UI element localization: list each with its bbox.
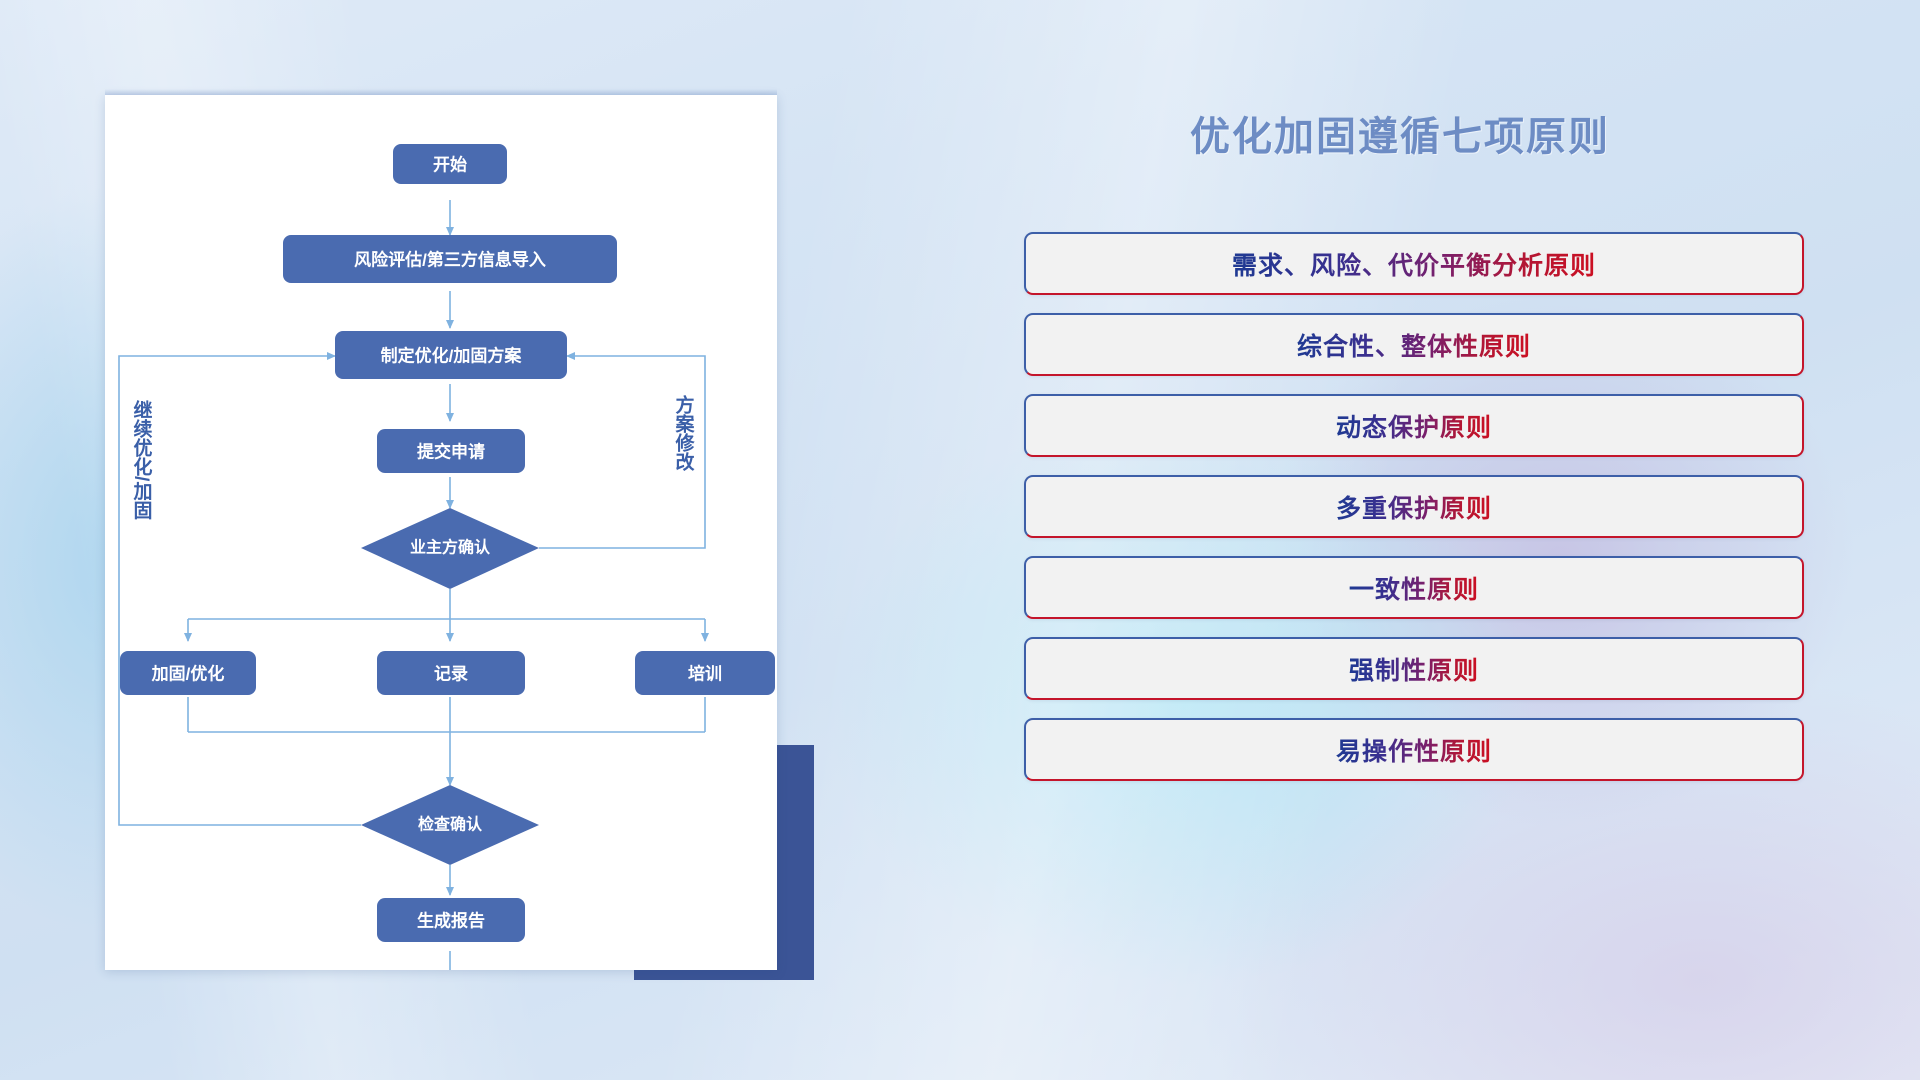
flow-node-record[interactable]: 记录 [377, 651, 525, 695]
flow-node-label: 培训 [688, 664, 722, 684]
principle-label: 多重保护原则 [1336, 489, 1492, 525]
principle-label: 动态保护原则 [1336, 408, 1492, 444]
flow-node-generate-report[interactable]: 生成报告 [377, 898, 525, 942]
flow-node-make-plan[interactable]: 制定优化/加固方案 [335, 331, 567, 379]
flow-node-label: 加固/优化 [151, 664, 225, 684]
flow-node-label: 开始 [433, 155, 467, 175]
principle-item[interactable]: 需求、风险、代价平衡分析原则 [1024, 232, 1804, 295]
principle-label: 需求、风险、代价平衡分析原则 [1232, 246, 1596, 282]
flow-edge-label-plan-revision: 方案修改 [673, 394, 696, 472]
principle-item[interactable]: 强制性原则 [1024, 637, 1804, 700]
principle-label: 易操作性原则 [1336, 732, 1492, 768]
flow-node-submit-application[interactable]: 提交申请 [377, 429, 525, 473]
flow-node-label: 风险评估/第三方信息导入 [354, 250, 546, 270]
principle-label: 强制性原则 [1349, 651, 1479, 687]
flow-node-label: 记录 [434, 665, 468, 684]
principle-item[interactable]: 动态保护原则 [1024, 394, 1804, 457]
flowchart-card: 开始 风险评估/第三方信息导入 制定优化/加固方案 提交申请 业主方确认 [105, 95, 777, 970]
flow-node-risk-assessment[interactable]: 风险评估/第三方信息导入 [283, 235, 617, 283]
flow-node-reinforce-optimize[interactable]: 加固/优化 [120, 651, 256, 695]
flow-node-label: 提交申请 [417, 442, 485, 462]
flow-node-owner-confirm[interactable]: 业主方确认 [361, 508, 539, 589]
principle-item[interactable]: 一致性原则 [1024, 556, 1804, 619]
slide-canvas: 开始 风险评估/第三方信息导入 制定优化/加固方案 提交申请 业主方确认 [0, 0, 1920, 1080]
right-panel-title: 优化加固遵循七项原则 [1020, 104, 1780, 162]
flow-node-label: 业主方确认 [410, 538, 491, 557]
flow-node-label: 制定优化/加固方案 [381, 346, 523, 366]
flowchart-svg: 开始 风险评估/第三方信息导入 制定优化/加固方案 提交申请 业主方确认 [105, 95, 777, 970]
principle-label: 综合性、整体性原则 [1297, 327, 1531, 363]
flow-edge-label-continue-optimize: 继续优化/加固 [131, 399, 154, 520]
principle-label: 一致性原则 [1349, 570, 1479, 606]
principle-item[interactable]: 多重保护原则 [1024, 475, 1804, 538]
flow-node-label: 生成报告 [417, 911, 485, 931]
flow-node-training[interactable]: 培训 [635, 651, 775, 695]
principles-list: 需求、风险、代价平衡分析原则 综合性、整体性原则 动态保护原则 多重保护原则 一… [1024, 232, 1804, 799]
flow-node-label: 检查确认 [418, 815, 483, 834]
flow-node-check-confirm[interactable]: 检查确认 [361, 785, 539, 865]
flow-node-start[interactable]: 开始 [393, 144, 507, 184]
principle-item[interactable]: 综合性、整体性原则 [1024, 313, 1804, 376]
principle-item[interactable]: 易操作性原则 [1024, 718, 1804, 781]
